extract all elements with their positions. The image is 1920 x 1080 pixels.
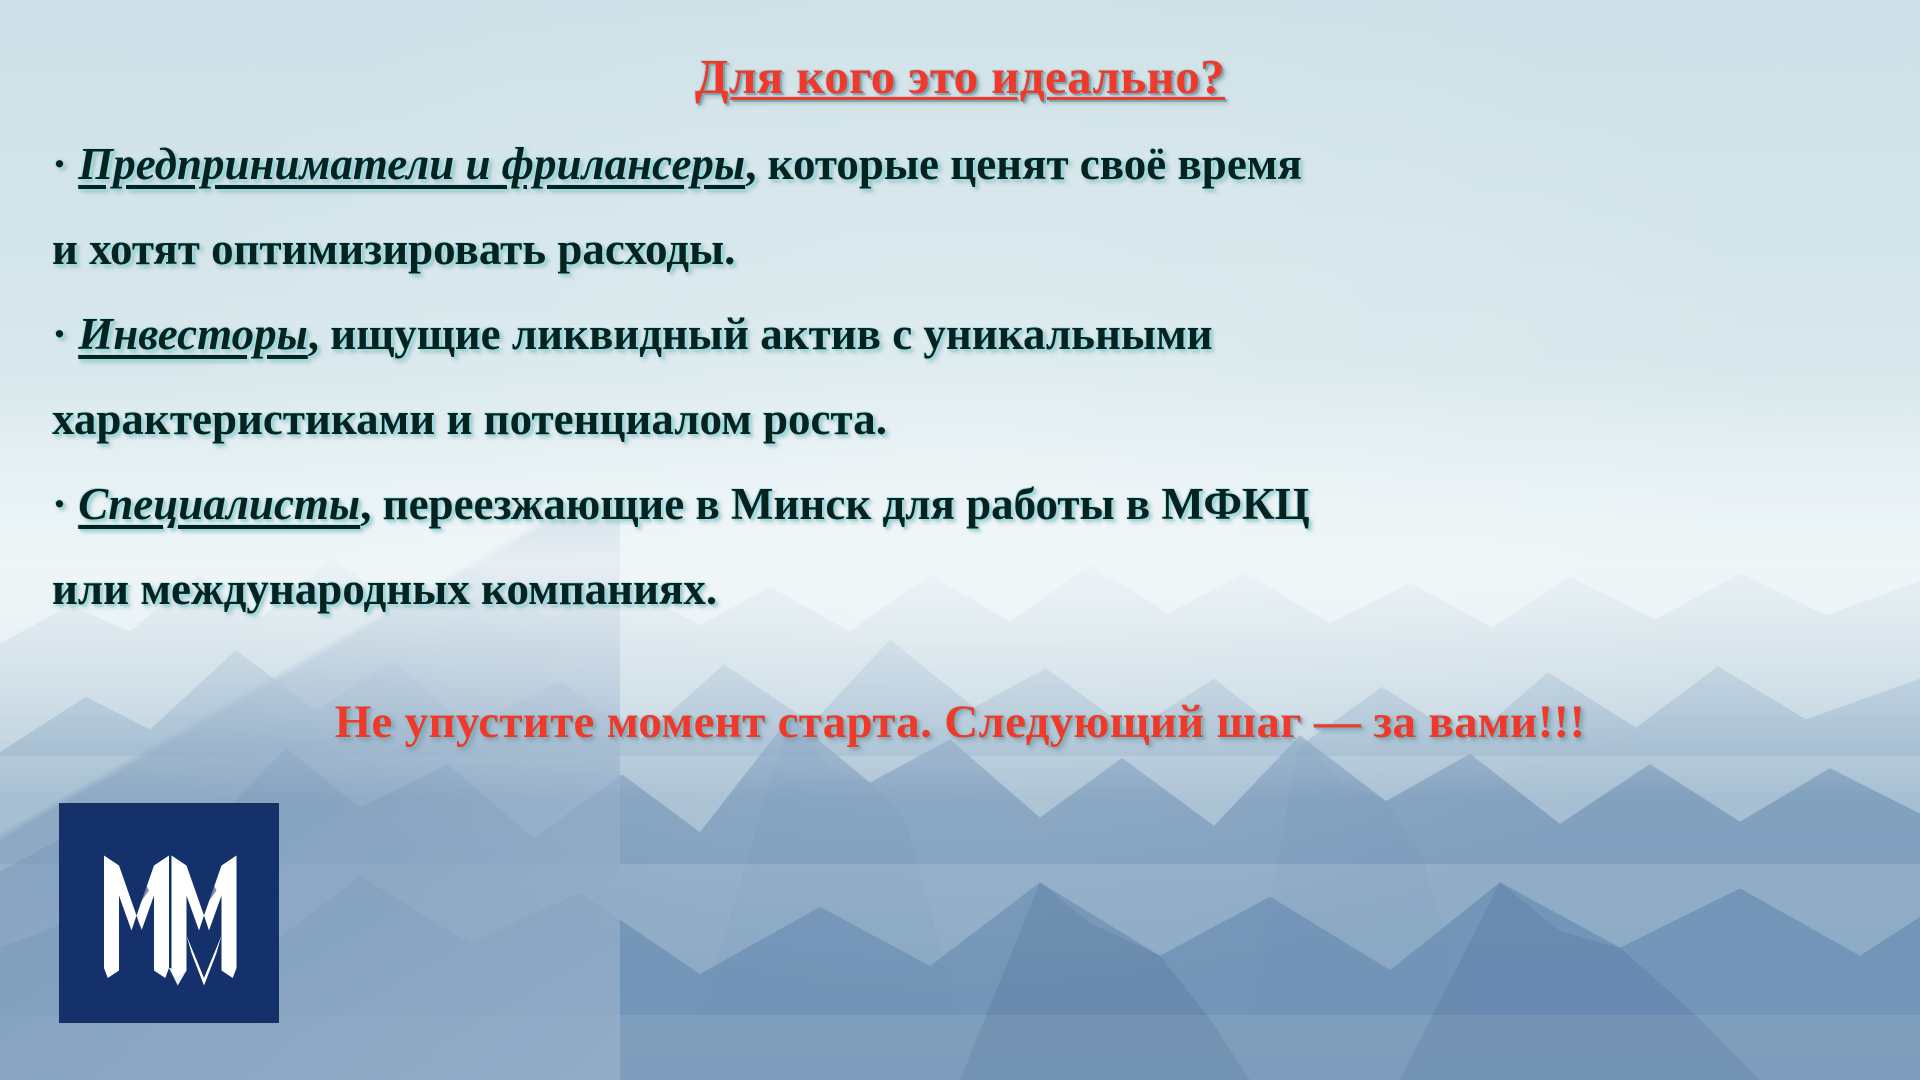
bullet-line2-3: или международных компаниях. — [52, 564, 717, 614]
bullet-emphasis-1: Предприниматели и фрилансеры — [78, 139, 745, 189]
list-item: · Специалисты, переезжающие в Минск для … — [52, 462, 1878, 547]
call-to-action-text: Не упустите момент старта. Следующий шаг… — [0, 695, 1920, 749]
list-item: · Инвесторы, ищущие ликвидный актив с ун… — [52, 292, 1878, 377]
brand-logo — [60, 804, 278, 1022]
slide-canvas: Для кого это идеально? · Предприниматели… — [0, 0, 1920, 1080]
page-title-text: Для кого это идеально? — [695, 49, 1225, 104]
list-item-continuation: или международных компаниях. — [52, 547, 1878, 632]
bullet-rest-1: , которые ценят своё время — [745, 139, 1302, 189]
slide-content: Для кого это идеально? · Предприниматели… — [0, 0, 1920, 1080]
list-item-continuation: характеристиками и потенциалом роста. — [52, 377, 1878, 462]
bullet-marker-2: · — [52, 309, 67, 359]
bullet-marker-1: · — [52, 139, 67, 189]
bullet-list: · Предприниматели и фрилансеры, которые … — [52, 122, 1878, 632]
bullet-rest-3: , переезжающие в Минск для работы в МФКЦ — [360, 479, 1309, 529]
page-title: Для кого это идеально? — [0, 48, 1920, 105]
bullet-emphasis-3: Специалисты — [78, 479, 360, 529]
list-item-continuation: и хотят оптимизировать расходы. — [52, 207, 1878, 292]
bullet-marker-3: · — [52, 479, 67, 529]
bullet-rest-2: , ищущие ликвидный актив с уникальными — [308, 309, 1213, 359]
bullet-line2-1: и хотят оптимизировать расходы. — [52, 224, 735, 274]
mw-monogram-icon — [94, 838, 244, 988]
bullet-line2-2: характеристиками и потенциалом роста. — [52, 394, 887, 444]
list-item: · Предприниматели и фрилансеры, которые … — [52, 122, 1878, 207]
bullet-emphasis-2: Инвесторы — [78, 309, 308, 359]
